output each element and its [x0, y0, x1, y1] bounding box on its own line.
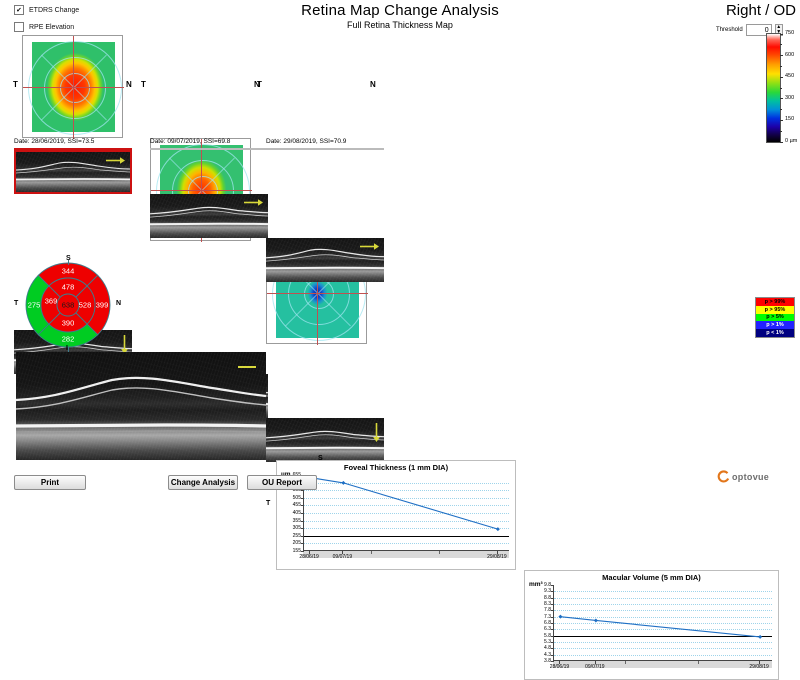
colorbar-minor-tick: [780, 66, 782, 67]
colorbar-tick-label: 300: [785, 95, 794, 101]
bscan-2[interactable]: [150, 194, 268, 238]
chart-ytick-mark-1-3: [301, 498, 304, 499]
arrow-right-icon: [105, 156, 127, 165]
colorbar-tick-mark: [780, 34, 783, 35]
colorbar-tick-mark: [780, 55, 783, 56]
chart-datapoint-1-2: [341, 481, 345, 485]
chart-ytick-label-1-4: 455: [279, 502, 301, 508]
chart-ytick-label-2-11: 4.3: [529, 652, 551, 658]
etdrs-axis-label-t: T: [266, 500, 270, 507]
etdrs-tick-s: [68, 260, 69, 265]
chart-ytick-mark-2-7: [551, 629, 554, 630]
chart-ytick-label-2-5: 7.3: [529, 614, 551, 620]
map-crosshair-h-1: [23, 87, 124, 88]
chart-xtick-label-2-0: 28/06/19: [550, 664, 569, 670]
colorbar-tick-mark: [780, 142, 783, 143]
chart-xtick-mark-2-0: [559, 661, 560, 664]
etdrs-grids-row: 344478638390282275369528399SITN-40-69-35…: [0, 255, 400, 355]
map-label-temporal-3: T: [257, 80, 262, 89]
chart-ytick-mark-1-8: [301, 536, 304, 537]
chart-ytick-mark-2-2: [551, 598, 554, 599]
bscan-arrow-6: [372, 422, 381, 444]
etdrs-axis-label-t: T: [14, 300, 18, 307]
colorbar-minor-tick: [780, 88, 782, 89]
map-date-label-1: Date: 28/06/2019, SSI=73.5: [14, 138, 94, 145]
chart-xtick-label-1-2: 29/08/19: [487, 554, 506, 560]
chart-ytick-label-2-0: 9.8: [529, 582, 551, 588]
chart-ytick-label-2-2: 8.8: [529, 595, 551, 601]
etdrs-value-outer_temporal: 275: [28, 301, 41, 310]
etdrs-value-inner_inferior: 390: [62, 319, 75, 328]
bscan-arrow-1: [105, 156, 127, 165]
chart-ytick-label-2-4: 7.8: [529, 607, 551, 613]
colorbar-minor-tick: [780, 44, 782, 45]
arrow-right-icon: [359, 242, 381, 251]
print-button[interactable]: Print: [14, 475, 86, 490]
chart-ytick-label-2-3: 8.3: [529, 601, 551, 607]
etdrs-value-inner_temporal: 369: [45, 297, 58, 306]
chart-ytick-mark-2-10: [551, 648, 554, 649]
chart-xtick-label-2-2: 29/08/19: [749, 664, 768, 670]
chart-ytick-mark-2-8: [551, 636, 554, 637]
etdrs-value-outer_superior: 344: [62, 267, 75, 276]
chart-ytick-label-1-7: 305: [279, 525, 301, 531]
colorbar-tick-label: 750: [785, 30, 794, 36]
map-date-label-3: Date: 29/08/2019, SSI=70.9: [266, 138, 346, 145]
colorbar-tick-mark: [780, 98, 783, 99]
chart-ytick-label-2-1: 9.3: [529, 588, 551, 594]
chart-ytick-label-1-5: 405: [279, 510, 301, 516]
chart-datapoint-1-3: [496, 527, 500, 531]
chart-xtick-minor-2-1: [698, 661, 699, 664]
colorbar-tick-mark: [780, 77, 783, 78]
chart-xtick-mark-1-0: [309, 551, 310, 554]
map-label-temporal-1: T: [13, 80, 18, 89]
chart-ytick-label-2-9: 5.3: [529, 639, 551, 645]
chart-xtick-label-1-1: 09/07/19: [333, 554, 352, 560]
chart-ytick-mark-2-3: [551, 604, 554, 605]
chart-ytick-label-2-10: 4.8: [529, 645, 551, 651]
chart-xtick-mark-2-1: [595, 661, 596, 664]
chart-ytick-label-2-7: 6.3: [529, 626, 551, 632]
map-label-temporal-2: T: [141, 80, 146, 89]
chart-ytick-label-2-12: 3.8: [529, 658, 551, 664]
chart-ytick-mark-1-9: [301, 543, 304, 544]
significance-legend-row-3: p > 5%: [756, 314, 794, 322]
chart-ytick-mark-1-7: [301, 528, 304, 529]
primary-bscan-image[interactable]: [16, 352, 266, 460]
chart-ytick-mark-1-5: [301, 513, 304, 514]
foveal-chart-title: Foveal Thickness (1 mm DIA): [277, 463, 515, 472]
chart-xtick-mark-2-2: [759, 661, 760, 664]
significance-legend-row-2: p > 95%: [756, 306, 794, 314]
thickness-map-1[interactable]: [22, 35, 123, 138]
significance-legend-row-5: p < 1%: [756, 329, 794, 337]
colorbar-gradient: [766, 33, 781, 143]
significance-legend-row-1: p > 99%: [756, 298, 794, 306]
colorbar-ticks: 7506004503001500 µm: [780, 33, 800, 143]
change-analysis-button[interactable]: Change Analysis: [168, 475, 238, 490]
bscan-arrow-3: [359, 242, 381, 251]
colorbar-tick-label: 0 µm: [785, 138, 797, 144]
chart-xtick-mark-1-1: [342, 551, 343, 554]
significance-legend: p > 99%p > 95%p > 5%p > 1%p < 1%: [755, 297, 795, 338]
chart-ytick-label-2-6: 6.8: [529, 620, 551, 626]
chart-xtick-mark-1-2: [497, 551, 498, 554]
page-subtitle: Full Retina Thickness Map: [0, 20, 800, 30]
etdrs-axis-label-n: N: [116, 300, 121, 307]
chart-ytick-label-1-8: 255: [279, 533, 301, 539]
chart-xtick-label-2-1: 09/07/19: [585, 664, 604, 670]
arrow-down-icon: [372, 422, 381, 444]
macular-chart-title: Macular Volume (5 mm DIA): [525, 573, 778, 582]
chart-ytick-label-1-9: 205: [279, 540, 301, 546]
eye-laterality-title: Right / OD: [600, 2, 796, 19]
map-crosshair-v-1: [73, 36, 74, 139]
chart-ytick-label-1-10: 155: [279, 548, 301, 554]
arrow-right-icon: [243, 198, 265, 207]
map-date-label-2: Date: 09/07/2019, SSI=69.8: [150, 138, 230, 145]
chart-ytick-label-1-6: 355: [279, 518, 301, 524]
chart-plot-area-1: [303, 475, 509, 551]
chart-ytick-mark-2-12: [551, 661, 554, 662]
chart-xtick-minor-2-0: [625, 661, 626, 664]
bscan-1[interactable]: [14, 150, 132, 194]
chart-series-2: [554, 585, 773, 661]
ou-report-button[interactable]: OU Report: [247, 475, 317, 490]
etdrs-value-inner_superior: 478: [62, 283, 75, 292]
chart-ytick-mark-1-6: [301, 521, 304, 522]
chart-plot-area-2: [553, 585, 772, 661]
chart-xtick-minor-1-1: [439, 551, 440, 554]
colorbar-tick-label: 150: [785, 116, 794, 122]
etdrs-value-outer_nasal: 399: [96, 301, 109, 310]
chart-ytick-mark-2-0: [551, 585, 554, 586]
thickness-colorbar: [766, 33, 781, 143]
chart-datapoint-2-3: [758, 635, 762, 639]
threshold-label: Threshold: [716, 27, 743, 33]
bscan-arrow-2: [243, 198, 265, 207]
chart-xtick-label-1-0: 28/06/19: [299, 554, 318, 560]
etdrs-value-center: 638: [62, 301, 75, 310]
etdrs-grid-1[interactable]: 344478638390282275369528399SITN: [12, 255, 124, 355]
chart-datapoint-2-1: [558, 615, 562, 619]
primary-bscan-speckle: [16, 352, 266, 460]
optovue-ring-icon: [716, 470, 730, 484]
chart-ytick-mark-1-10: [301, 551, 304, 552]
optovue-wordmark: optovue: [732, 472, 769, 482]
chart-ytick-mark-2-9: [551, 642, 554, 643]
chart-ytick-mark-1-4: [301, 505, 304, 506]
bscan-grid: [0, 150, 400, 248]
chart-series-1: [304, 475, 510, 551]
chart-datapoint-2-2: [594, 618, 598, 622]
etdrs-value-inner_nasal: 528: [79, 301, 92, 310]
chart-ytick-mark-2-6: [551, 623, 554, 624]
colorbar-minor-tick: [780, 109, 782, 110]
significance-legend-row-4: p > 1%: [756, 321, 794, 329]
colorbar-tick-label: 450: [785, 73, 794, 79]
colorbar-tick-mark: [780, 120, 783, 121]
etdrs-value-outer_inferior: 282: [62, 335, 75, 344]
chart-ytick-mark-2-11: [551, 655, 554, 656]
chart-xtick-minor-1-0: [371, 551, 372, 554]
chart-ytick-label-1-3: 505: [279, 495, 301, 501]
colorbar-tick-label: 600: [785, 52, 794, 58]
map-label-nasal-3: N: [370, 80, 376, 89]
chart-ytick-mark-1-2: [301, 490, 304, 491]
chart-ytick-mark-2-4: [551, 610, 554, 611]
chart-ytick-label-2-8: 5.8: [529, 633, 551, 639]
map-label-nasal-1: N: [126, 80, 132, 89]
chart-ytick-mark-2-5: [551, 617, 554, 618]
optovue-logo: optovue: [716, 470, 769, 484]
chart-ytick-mark-2-1: [551, 591, 554, 592]
thickness-maps-row: TNTNTN: [0, 32, 400, 150]
macular-volume-chart: Macular Volume (5 mm DIA) mm³ 9.89.38.88…: [524, 570, 779, 680]
colorbar-minor-tick: [780, 131, 782, 132]
